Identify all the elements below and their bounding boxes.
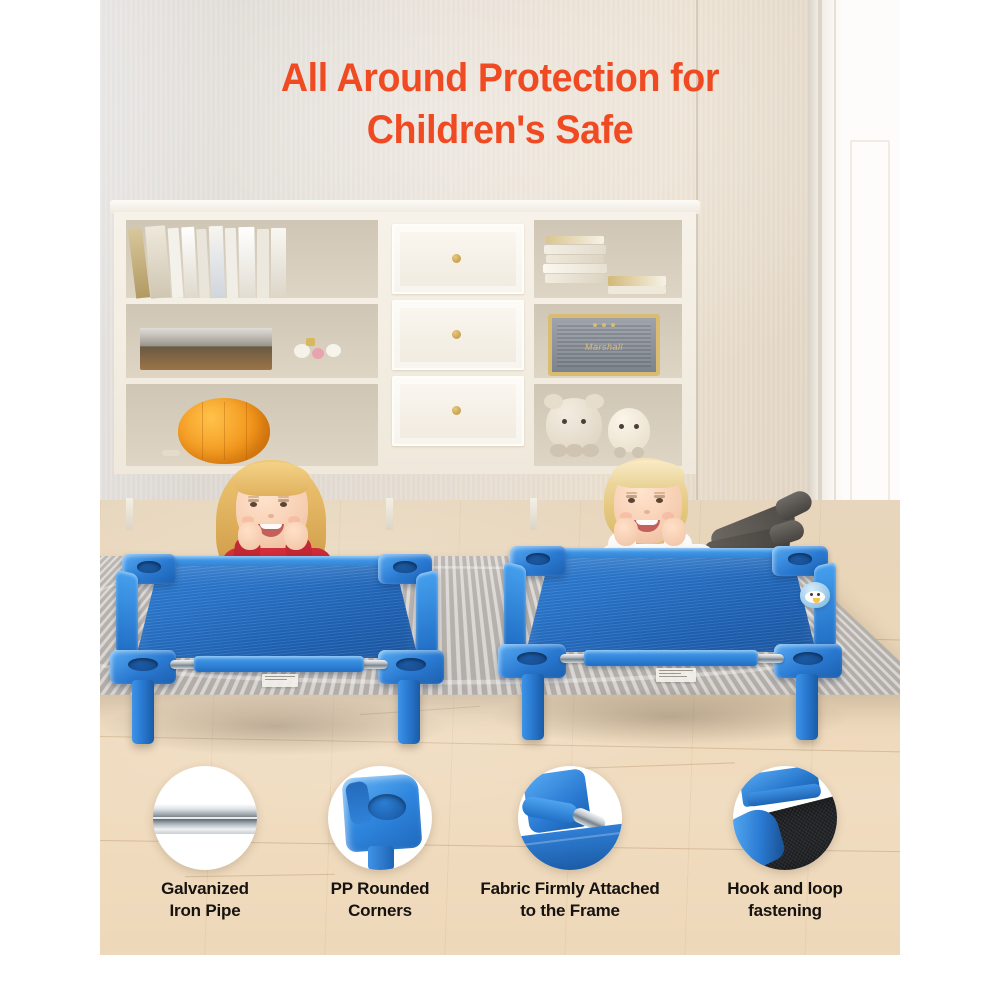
cot-right-corner-front-left: [498, 644, 566, 678]
cot-right-leg-front-right: [796, 674, 818, 740]
speaker-brand-script: Marshall: [585, 342, 623, 352]
drawer-top[interactable]: [392, 224, 524, 294]
chrome-pipe-icon: [153, 766, 257, 870]
cot-left-corner-front-right: [378, 650, 444, 684]
feature-label-4-line2: fastening: [748, 901, 822, 920]
feature-label-2-line1: PP Rounded: [331, 879, 430, 898]
headline-line-2: Children's Safe: [30, 104, 970, 156]
cubby-books: [534, 220, 682, 298]
feature-label-3-line2: to the Frame: [520, 901, 620, 920]
feature-fabric-firmly-attached[interactable]: Fabric Firmly Attached to the Frame: [475, 766, 665, 922]
feature-label-1-line2: Iron Pipe: [170, 901, 241, 920]
blue-corner-icon: [328, 766, 432, 870]
cot-left-frame: [110, 556, 440, 740]
cot-right-frame: [500, 548, 840, 738]
feature-label-1-line1: Galvanized: [161, 879, 249, 898]
cot-right-product-label: [656, 668, 696, 682]
drawer-bottom[interactable]: [392, 376, 524, 446]
plush-bird-toy: [800, 582, 830, 608]
feature-label-3-line1: Fabric Firmly Attached: [480, 879, 659, 898]
cot-right-corner-front-right: [774, 644, 842, 678]
feature-label-2: PP Rounded Corners: [285, 878, 475, 922]
cot-left-leg-front-left: [132, 680, 154, 744]
feature-hook-and-loop-fastening[interactable]: Hook and loop fastening: [690, 766, 880, 922]
cot-left-leg-front-right: [398, 680, 420, 744]
frame-fabric-icon: [518, 766, 622, 870]
cubby-speaker: Marshall: [534, 304, 682, 378]
feature-galvanized-iron-pipe[interactable]: Galvanized Iron Pipe: [110, 766, 300, 922]
feature-label-1: Galvanized Iron Pipe: [110, 878, 300, 922]
feature-pp-rounded-corners[interactable]: PP Rounded Corners: [285, 766, 475, 922]
feature-row: Galvanized Iron Pipe PP Rounded Corners: [0, 766, 1000, 956]
headline-line-1: All Around Protection for: [281, 56, 719, 100]
feature-label-3: Fabric Firmly Attached to the Frame: [475, 878, 665, 922]
velcro-icon: [733, 766, 837, 870]
feature-label-2-line2: Corners: [348, 901, 412, 920]
feature-label-4: Hook and loop fastening: [690, 878, 880, 922]
shelf-record-player: [126, 304, 378, 378]
feature-label-4-line1: Hook and loop: [727, 879, 842, 898]
product-feature-banner: Marshall: [0, 0, 1000, 1000]
cot-right-leg-front-left: [522, 674, 544, 740]
cot-left-corner-front-left: [110, 650, 176, 684]
drawer-middle[interactable]: [392, 300, 524, 370]
shelf-books: [126, 220, 378, 298]
headline: All Around Protection for Children's Saf…: [30, 52, 970, 156]
